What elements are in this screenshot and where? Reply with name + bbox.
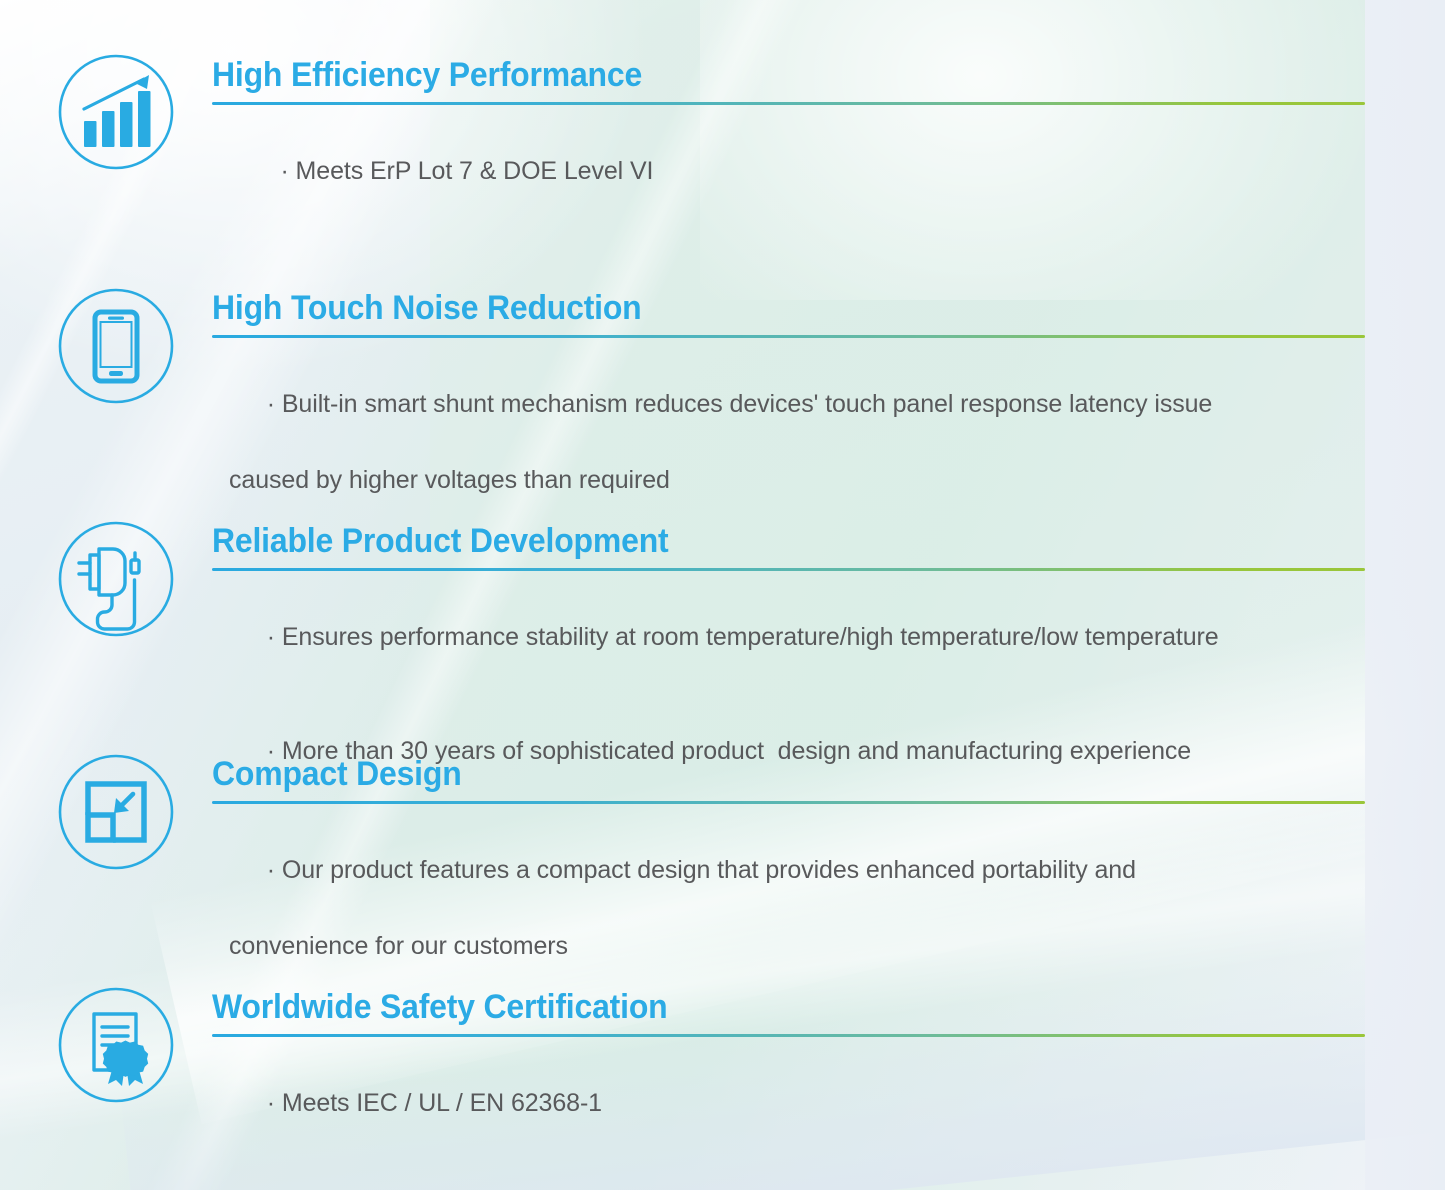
feature-title-rule: [212, 568, 1365, 571]
feature-title-rule: [212, 102, 1365, 105]
feature-title-rule: [212, 801, 1365, 804]
feature-description-list: · Meets ErP Lot 7 & DOE Level VI: [212, 114, 1372, 228]
feature-title: Reliable Product Development: [212, 521, 1302, 561]
resize-compact-icon: [57, 753, 175, 871]
feature-description-text-cont: caused by higher voltages than required: [212, 461, 1372, 499]
feature-title: Worldwide Safety Certification: [212, 987, 1302, 1027]
feature-list: High Efficiency Performance · Meets ErP …: [0, 0, 1445, 1190]
bullet-marker: ·: [267, 390, 275, 418]
certificate-seal-icon: [57, 986, 175, 1104]
feature-description-text: Our product features a compact design th…: [275, 856, 1136, 884]
power-adapter-icon: [57, 520, 175, 638]
feature-description-text: Meets ErP Lot 7 & DOE Level VI: [289, 157, 654, 185]
feature-description-list: · Meets IEC / UL / EN 62368-1: [212, 1046, 1372, 1160]
bullet-marker: ·: [267, 856, 275, 884]
feature-description-text: Ensures performance stability at room te…: [275, 623, 1219, 651]
bar-chart-growth-icon: [57, 53, 175, 171]
feature-description-text: Meets IEC / UL / EN 62368-1: [275, 1089, 602, 1117]
feature-description-line: · Ensures performance stability at room …: [212, 580, 1372, 694]
feature-title-rule: [212, 1034, 1365, 1037]
feature-description-text-cont: convenience for our customers: [212, 927, 1372, 965]
bullet-marker: ·: [267, 623, 275, 651]
feature-text-block: High Efficiency Performance · Meets ErP …: [212, 55, 1372, 228]
bullet-marker: ·: [267, 1089, 275, 1117]
feature-description-line: · Meets IEC / UL / EN 62368-1: [212, 1046, 1372, 1160]
feature-description-text: Built-in smart shunt mechanism reduces d…: [275, 390, 1212, 418]
smartphone-icon: [57, 287, 175, 405]
feature-title: Compact Design: [212, 754, 1302, 794]
feature-description-line: · Meets ErP Lot 7 & DOE Level VI: [212, 114, 1372, 228]
feature-title: High Touch Noise Reduction: [212, 288, 1302, 328]
feature-title: High Efficiency Performance: [212, 55, 1302, 95]
bullet-marker: ·: [280, 157, 288, 185]
feature-title-rule: [212, 335, 1365, 338]
feature-text-block-5: Worldwide Safety Certification · Meets I…: [212, 987, 1372, 1160]
